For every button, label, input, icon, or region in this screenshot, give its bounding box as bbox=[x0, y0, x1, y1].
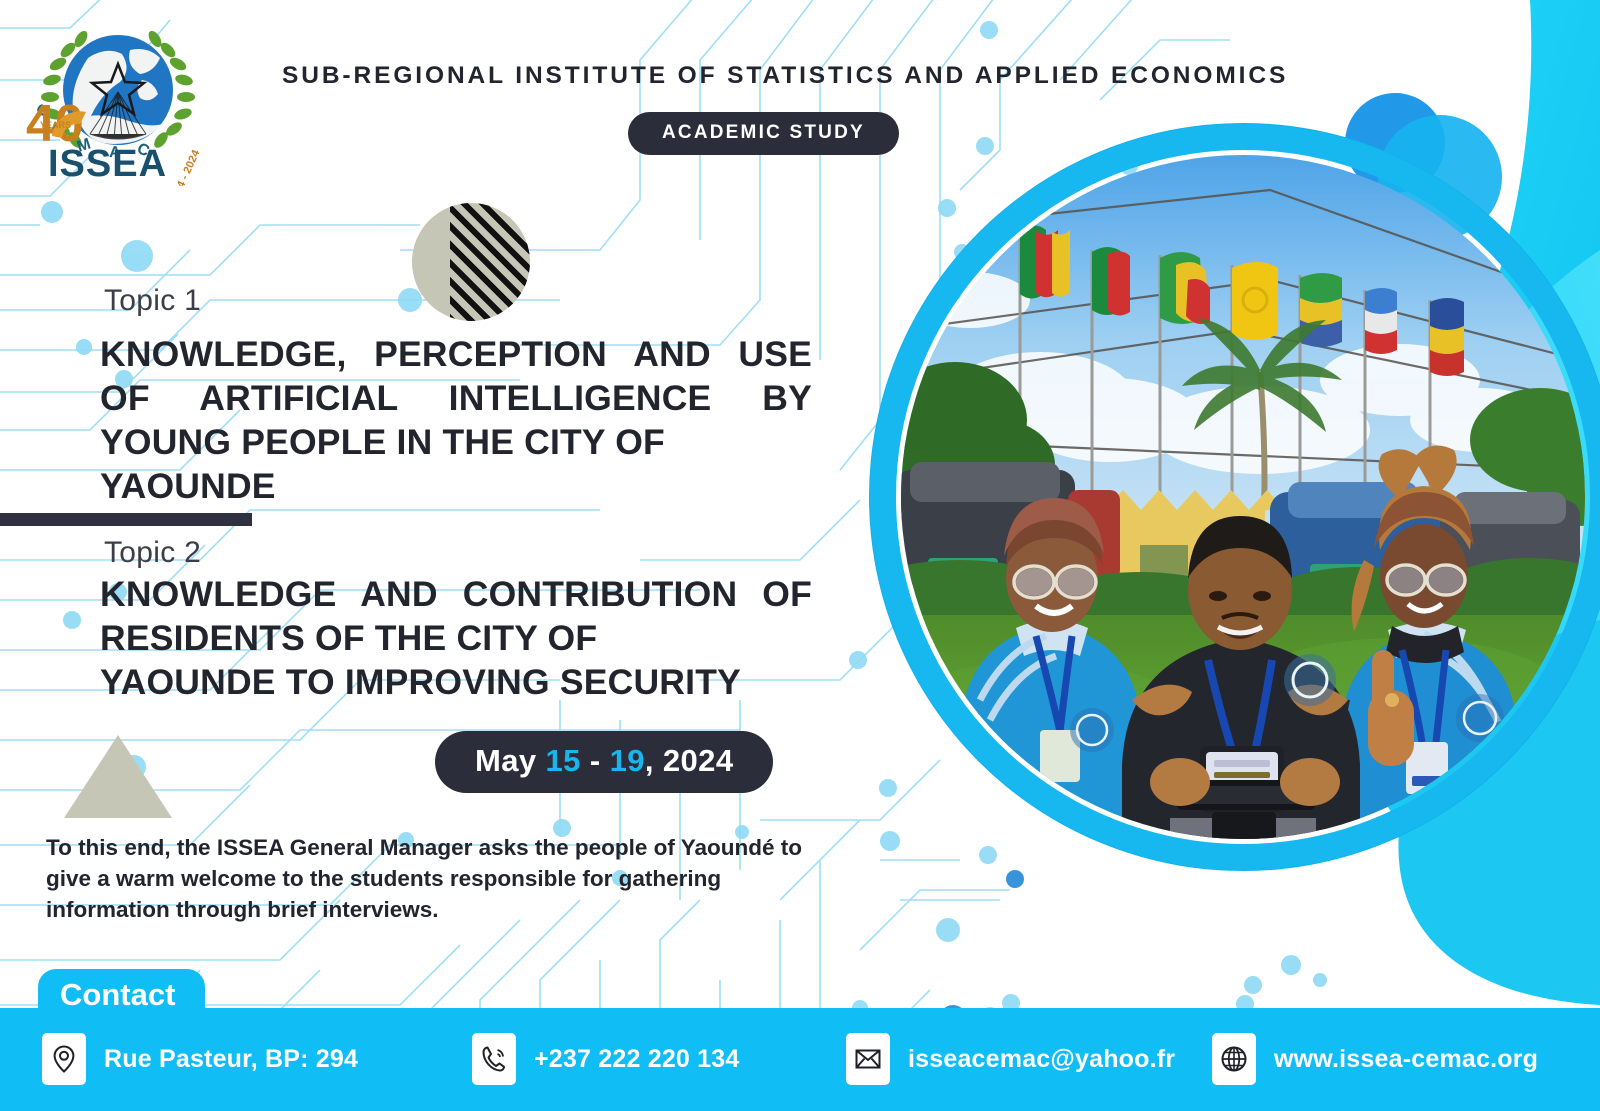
contact-item-website[interactable]: www.issea-cemac.org bbox=[1212, 1033, 1538, 1085]
location-pin-icon bbox=[42, 1033, 86, 1085]
svg-text:ISSEA: ISSEA bbox=[48, 143, 167, 185]
contact-item-email[interactable]: isseacemac@yahoo.fr bbox=[846, 1033, 1175, 1085]
announcement-paragraph: To this end, the ISSEA General Manager a… bbox=[46, 832, 821, 925]
topic-1-heading-last: YAOUNDE bbox=[100, 464, 812, 508]
issea-cemac-logo: C E M A C 40 YEARS 1984 - 2024 ISSEA bbox=[18, 6, 218, 186]
topic-2-heading-last: YAOUNDE TO IMPROVING SECURITY bbox=[100, 660, 812, 704]
contact-email-text: isseacemac@yahoo.fr bbox=[908, 1045, 1175, 1074]
event-date-badge: May 15 - 19, 2024 bbox=[435, 731, 773, 793]
section-divider bbox=[0, 513, 252, 526]
svg-text:YEARS: YEARS bbox=[40, 120, 71, 130]
topic-2-heading-main: KNOWLEDGE AND CONTRIBUTION OF RESIDENTS … bbox=[100, 574, 812, 658]
date-day-start: 15 bbox=[546, 743, 581, 778]
date-month: May bbox=[475, 743, 537, 778]
date-year: , 2024 bbox=[645, 743, 734, 778]
contact-address-text: Rue Pasteur, BP: 294 bbox=[104, 1045, 358, 1074]
topic-2-heading: KNOWLEDGE AND CONTRIBUTION OF RESIDENTS … bbox=[100, 572, 812, 704]
contact-items-row: Rue Pasteur, BP: 294 +237 222 220 134 bbox=[0, 1020, 1600, 1098]
page-title: SUB-REGIONAL INSTITUTE OF STATISTICS AND… bbox=[282, 62, 1288, 90]
date-separator: - bbox=[581, 743, 610, 778]
poster-canvas: C E M A C 40 YEARS 1984 - 2024 ISSEA SUB… bbox=[0, 0, 1600, 1111]
contact-phone-text: +237 222 220 134 bbox=[534, 1045, 739, 1074]
envelope-icon bbox=[846, 1033, 890, 1085]
topic-1-label: Topic 1 bbox=[104, 284, 201, 318]
topic-2-label: Topic 2 bbox=[104, 536, 201, 570]
khaki-triangle-decoration bbox=[64, 735, 172, 818]
contact-item-address[interactable]: Rue Pasteur, BP: 294 bbox=[42, 1033, 358, 1085]
phone-icon bbox=[472, 1033, 516, 1085]
status-badge: ACADEMIC STUDY bbox=[628, 112, 899, 155]
contact-item-phone[interactable]: +237 222 220 134 bbox=[472, 1033, 739, 1085]
date-day-end: 19 bbox=[610, 743, 645, 778]
photo-and-shapes-artwork bbox=[840, 0, 1600, 1010]
contact-website-text: www.issea-cemac.org bbox=[1274, 1045, 1538, 1074]
topic-1-heading-main: KNOWLEDGE, PERCEPTION AND USE OF ARTIFIC… bbox=[100, 334, 812, 462]
topic-1-heading: KNOWLEDGE, PERCEPTION AND USE OF ARTIFIC… bbox=[100, 332, 812, 508]
globe-icon bbox=[1212, 1033, 1256, 1085]
svg-text:1984 - 2024: 1984 - 2024 bbox=[167, 147, 202, 186]
striped-circle-decoration bbox=[450, 203, 530, 321]
contact-tab-label: Contact bbox=[38, 969, 205, 1023]
